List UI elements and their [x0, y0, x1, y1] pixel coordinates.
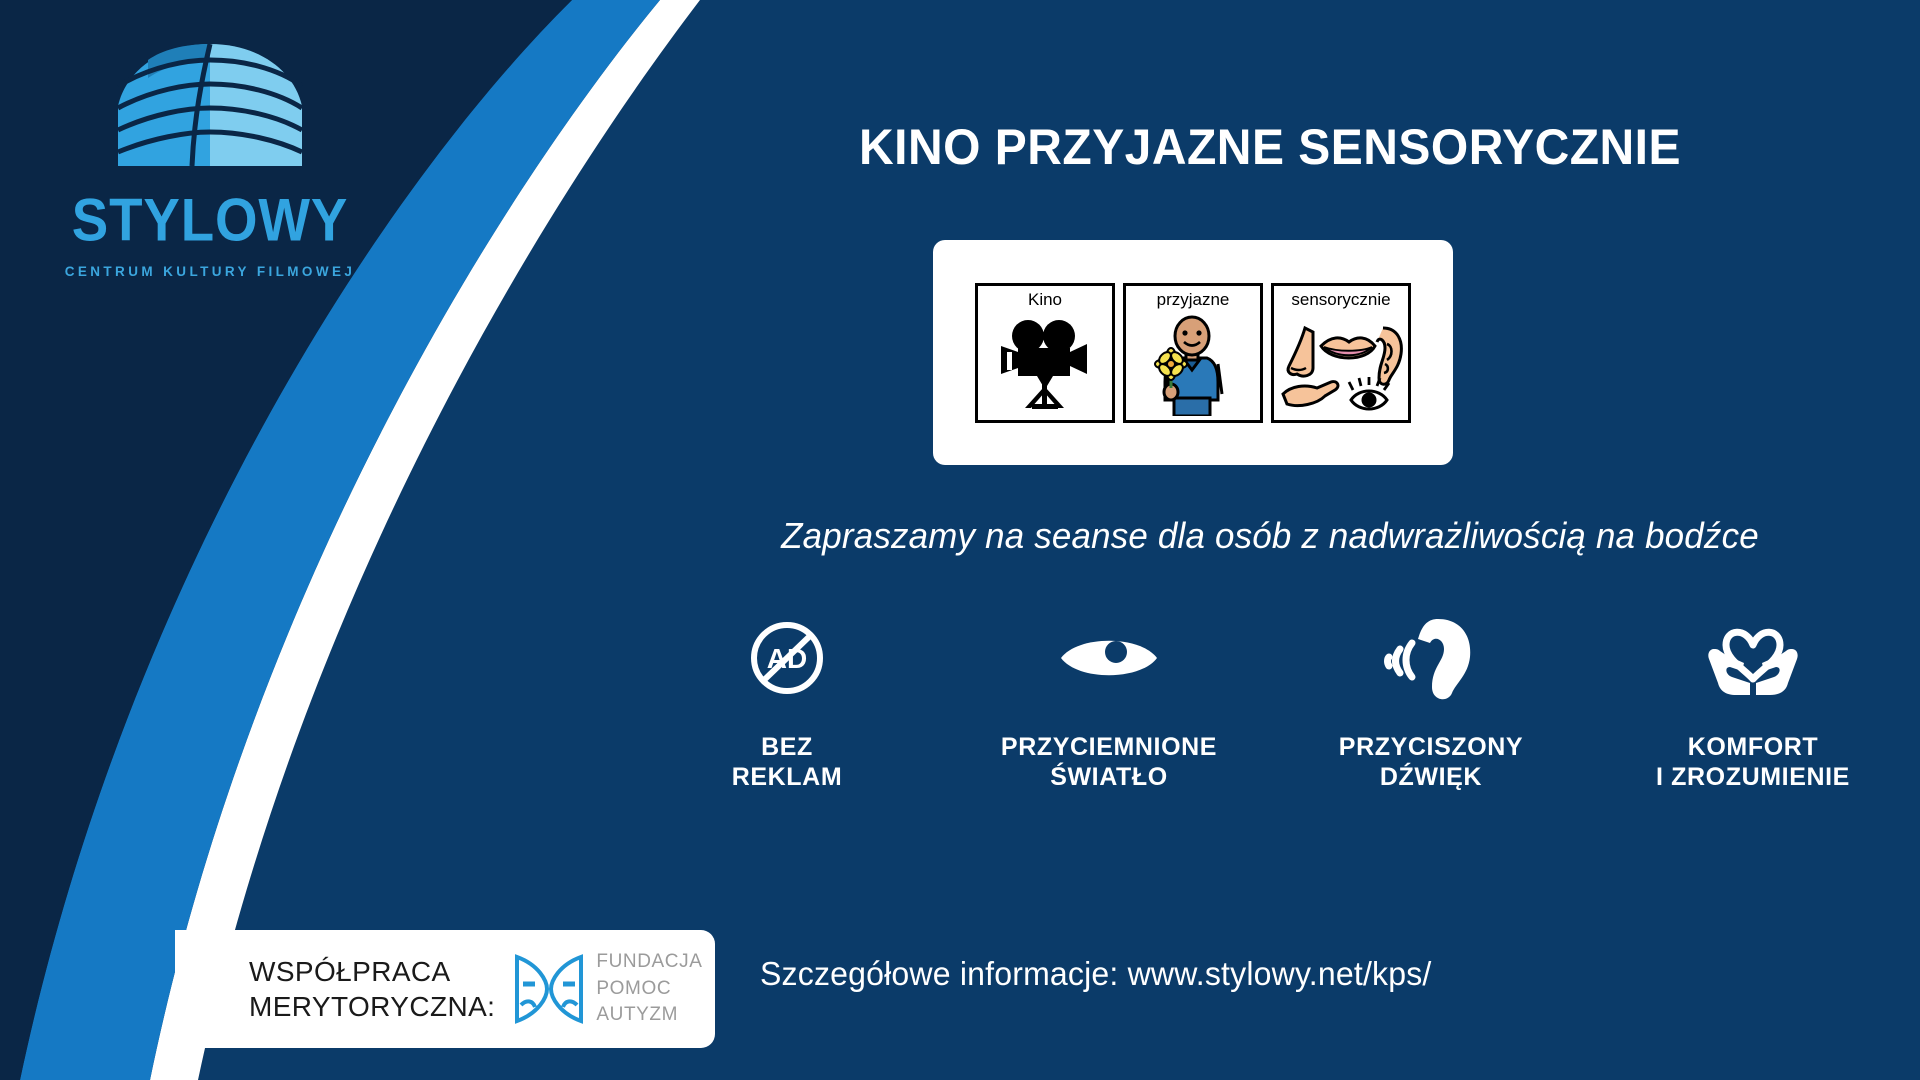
page-title: KINO PRZYJAZNE SENSORYCZNIE [646, 122, 1894, 172]
no-ads-icon: AD [662, 615, 912, 701]
poster-root: STYLOWY CENTRUM KULTURY FILMOWEJ KINO PR… [0, 0, 1920, 1080]
pictogram-kino: Kino [975, 283, 1115, 423]
fundacja-wordmark: FUNDACJA POMOC AUTYZM [596, 949, 702, 1030]
fundacja-two-faces-icon [511, 951, 587, 1027]
pictogram-card: Kino przyjazne [933, 240, 1453, 465]
feature-bez-reklam: AD BEZ REKLAM [662, 615, 912, 792]
eye-icon [984, 615, 1234, 701]
fundacja-line-3: AUTYZM [596, 1002, 702, 1029]
five-senses-icon [1279, 320, 1403, 416]
stylowy-logo: STYLOWY CENTRUM KULTURY FILMOWEJ [40, 38, 380, 308]
ear-sound-icon [1306, 615, 1556, 701]
content-column: KINO PRZYJAZNE SENSORYCZNIE Kino [620, 0, 1920, 1080]
svg-text:AD: AD [767, 643, 807, 674]
pictogram-label: sensorycznie [1274, 291, 1408, 310]
cooperation-label: WSPÓŁPRACA MERYTORYCZNA: [249, 954, 495, 1024]
movie-camera-icon [985, 316, 1105, 416]
fundacja-line-1: FUNDACJA [596, 949, 702, 976]
cooperation-card: WSPÓŁPRACA MERYTORYCZNA: FUNDACJA POMOC … [175, 930, 715, 1048]
pictogram-sensorycznie: sensorycznie [1271, 283, 1411, 423]
fundacja-logo: FUNDACJA POMOC AUTYZM [511, 949, 702, 1030]
logo-wordmark-text: STYLOWY [65, 188, 355, 252]
feature-label: KOMFORT I ZROZUMIENIE [1628, 733, 1878, 792]
logo-wordmark: STYLOWY [40, 188, 380, 252]
feature-label: PRZYCISZONY DŹWIĘK [1306, 733, 1556, 792]
pictogram-przyjazne: przyjazne [1123, 283, 1263, 423]
tagline: Zapraszamy na seanse dla osób z nadwrażl… [640, 515, 1901, 557]
feature-list: AD BEZ REKLAM PRZYCIEMNIONE ŚWIATŁO [620, 615, 1920, 792]
pictogram-label: przyjazne [1126, 291, 1260, 310]
feature-label: BEZ REKLAM [662, 733, 912, 792]
svg-text:STYLOWY: STYLOWY [72, 188, 348, 252]
pictogram-label: Kino [978, 291, 1112, 310]
heart-in-hands-icon [1628, 615, 1878, 701]
feature-przyciszony-dzwiek: PRZYCISZONY DŹWIĘK [1306, 615, 1556, 792]
logo-subtitle: CENTRUM KULTURY FILMOWEJ [40, 264, 380, 279]
person-with-flower-icon [1138, 314, 1248, 416]
feature-komfort: KOMFORT I ZROZUMIENIE [1628, 615, 1878, 792]
feature-przyciemnione-swiatlo: PRZYCIEMNIONE ŚWIATŁO [984, 615, 1234, 792]
stylowy-building-icon [92, 38, 328, 186]
feature-label: PRZYCIEMNIONE ŚWIATŁO [984, 733, 1234, 792]
fundacja-line-2: POMOC [596, 976, 702, 1003]
info-link[interactable]: Szczegółowe informacje: www.stylowy.net/… [760, 955, 1711, 993]
